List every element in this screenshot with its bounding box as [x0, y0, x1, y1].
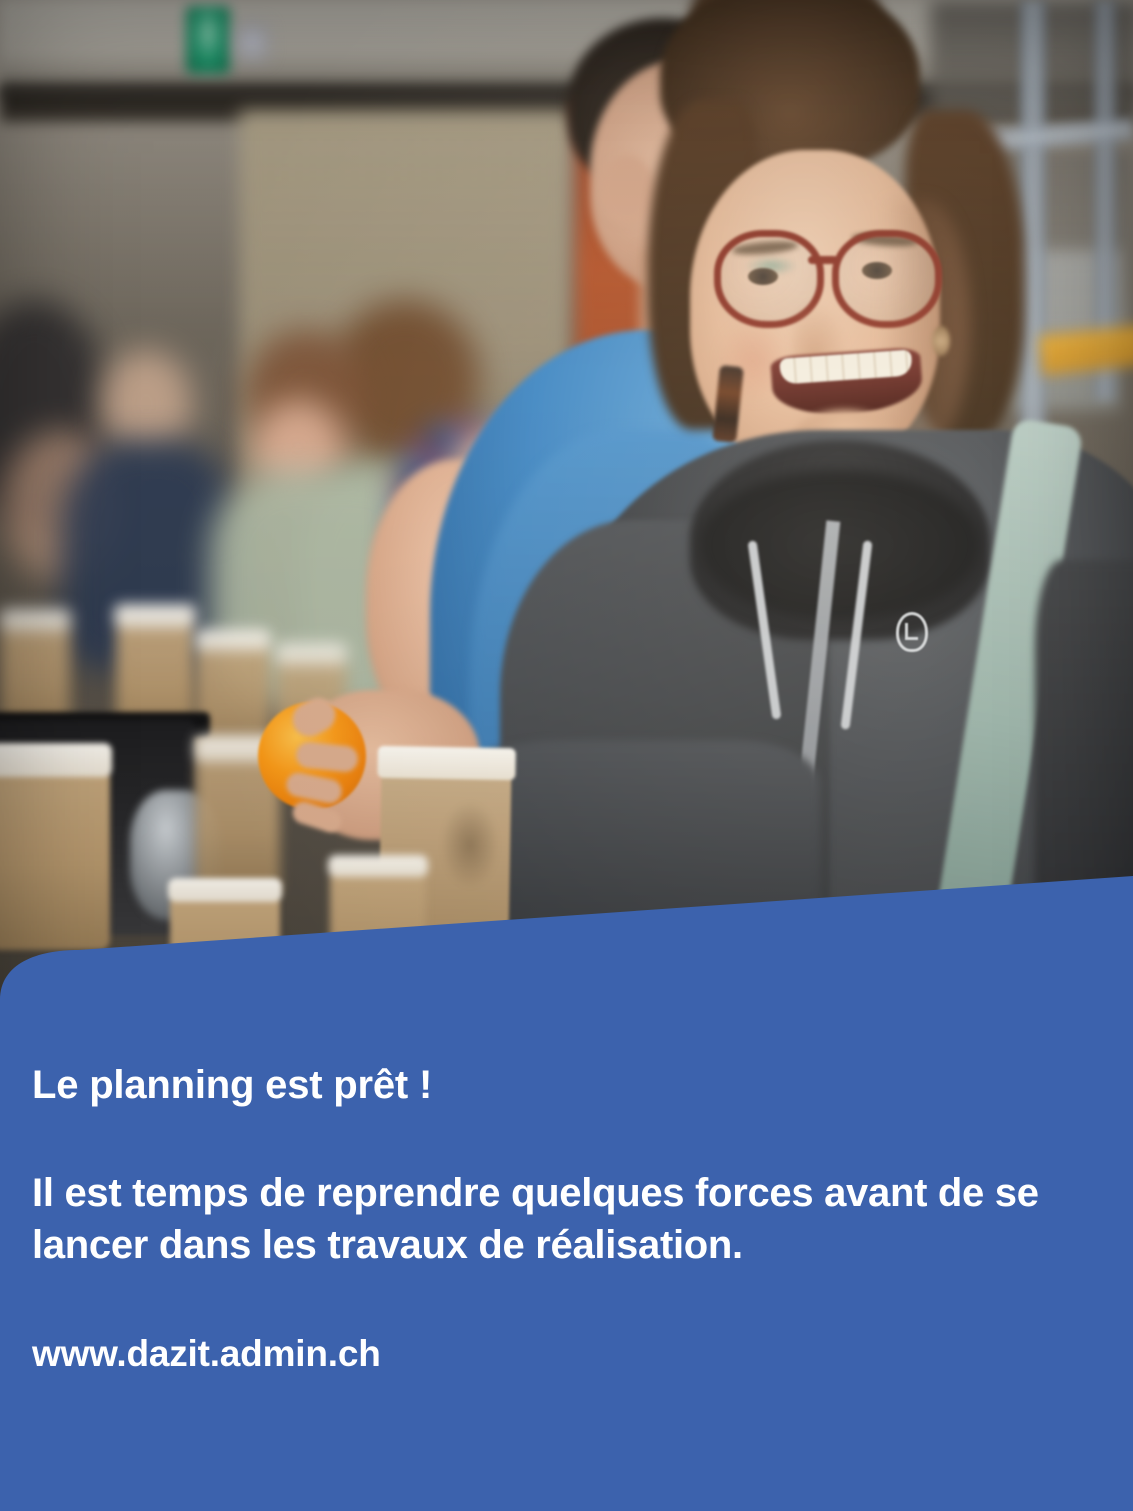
- paper-cup: [0, 760, 110, 950]
- ceiling-light-glow-icon: [232, 20, 272, 64]
- man-ear: [600, 155, 654, 225]
- overlay-text-block: Le planning est prêt ! Il est temps de r…: [32, 1062, 1110, 1375]
- exit-sign-icon: [186, 6, 230, 74]
- headline: Le planning est prêt !: [32, 1062, 1110, 1109]
- eyeglass-lens-right: [832, 230, 942, 328]
- hoodie-brand-logo-icon: [896, 612, 928, 652]
- poster-canvas: Le planning est prêt ! Il est temps de r…: [0, 0, 1133, 1511]
- body-text: Il est temps de reprendre quelques force…: [32, 1167, 1110, 1271]
- hoodie-fur-lining: [700, 470, 980, 620]
- cup-printed-logo-icon: [440, 800, 500, 890]
- website-url[interactable]: www.dazit.admin.ch: [32, 1333, 1110, 1375]
- earring-right-icon: [932, 326, 950, 356]
